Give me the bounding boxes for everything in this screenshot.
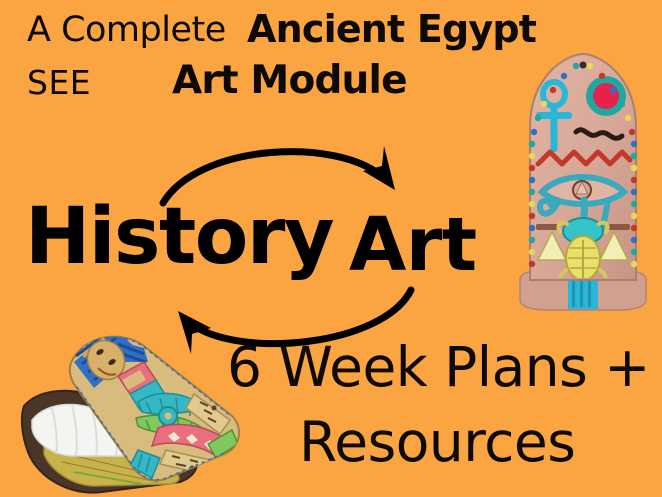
- cartouche-hole: [580, 62, 587, 69]
- headline-subject: Art Module: [172, 61, 407, 100]
- cycle-word-art: Art: [349, 208, 477, 282]
- bottom-line-resources: Resources: [299, 415, 575, 470]
- poster-canvas: A Complete Ancient Egypt SEE Art Module …: [0, 0, 662, 497]
- headline-emphasis: Ancient Egypt: [247, 10, 536, 48]
- sun-disk-icon: [586, 76, 626, 116]
- sarcophagus-artifact-image: [18, 332, 246, 497]
- cartouche-artifact-image: [508, 48, 658, 330]
- headline-prefix: A Complete: [27, 13, 226, 48]
- headline-see-label: SEE: [27, 66, 91, 99]
- cycle-word-history: History: [25, 198, 333, 276]
- bottom-line-weeks: 6 Week Plans +: [227, 340, 650, 395]
